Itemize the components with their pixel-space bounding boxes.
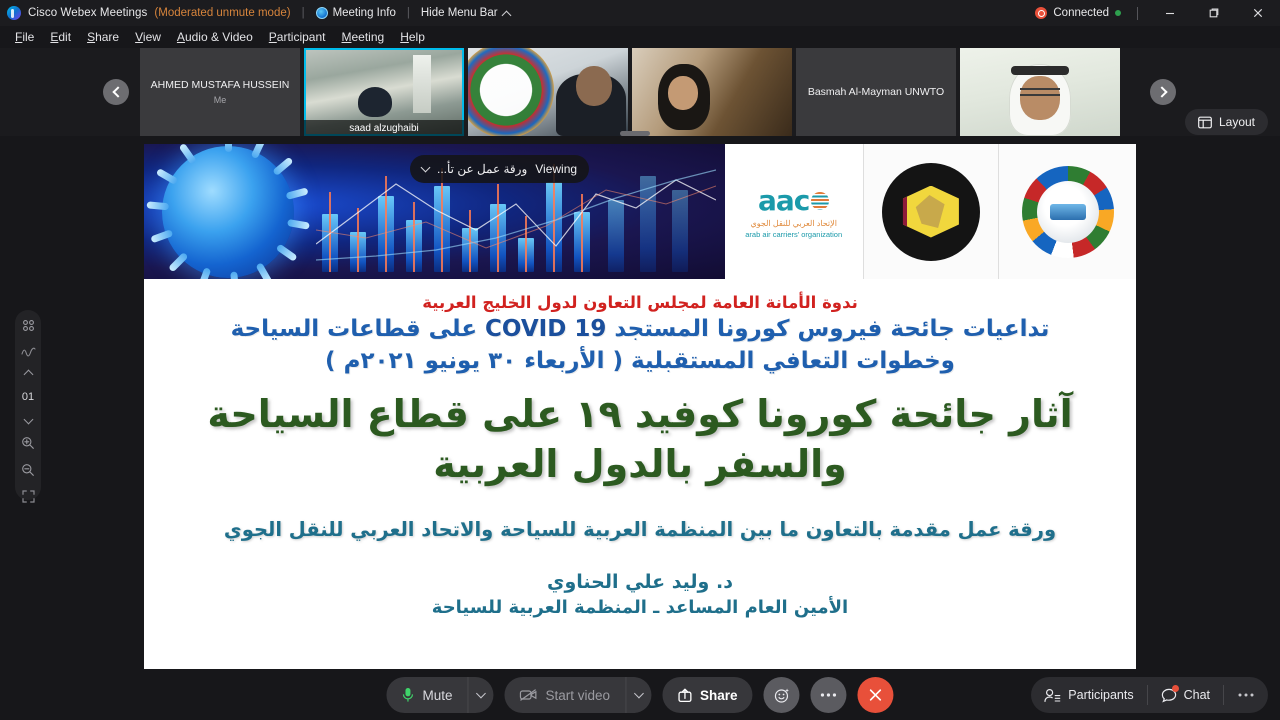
- slide-subtitle: ورقة عمل مقدمة بالتعاون ما بين المنظمة ا…: [144, 518, 1136, 541]
- more-right-button[interactable]: [1224, 677, 1268, 713]
- meeting-info-label: Meeting Info: [333, 7, 396, 19]
- leave-meeting-button[interactable]: [858, 677, 894, 713]
- gcc-seal-icon: [882, 163, 980, 261]
- mute-button-group: Mute: [386, 677, 493, 713]
- hide-menu-bar-label: Hide Menu Bar: [421, 7, 498, 19]
- participant-thumbnail-ahmed[interactable]: AHMED MUSTAFA HUSSEIN Me: [140, 48, 300, 136]
- start-video-button-group: Start video: [504, 677, 651, 713]
- menu-bar: File Edit Share View Audio & Video Parti…: [0, 26, 1280, 48]
- hide-menu-bar-button[interactable]: Hide Menu Bar: [421, 7, 510, 19]
- webex-logo-icon: [7, 6, 21, 20]
- participant-filmstrip: AHMED MUSTAFA HUSSEIN Me saad alzughaibi: [0, 48, 1280, 136]
- menu-view[interactable]: View: [127, 28, 169, 46]
- layout-button-label: Layout: [1219, 115, 1255, 129]
- menu-edit[interactable]: Edit: [42, 28, 79, 46]
- menu-meeting[interactable]: Meeting: [334, 28, 393, 46]
- page-down-button[interactable]: [18, 416, 38, 423]
- connection-status[interactable]: Connected: [1035, 7, 1121, 19]
- meeting-controls-bar: Mute Start video: [0, 670, 1280, 720]
- mute-options-button[interactable]: [467, 677, 493, 713]
- minimize-button[interactable]: [1148, 0, 1192, 26]
- viewing-document-name: ورقة عمل عن تأ...: [437, 162, 527, 176]
- fullscreen-icon[interactable]: [18, 490, 38, 503]
- aac-logo-english: arab air carriers' organization: [745, 230, 842, 239]
- slide-line-blue-1-before: تداعيات جائحة فيروس كورونا المستجد: [614, 316, 1049, 342]
- slide-line-blue-2: وخطوات التعافي المستقبلية ( الأربعاء ٣٠ …: [144, 346, 1136, 378]
- participant-thumbnail-4[interactable]: [632, 48, 792, 136]
- gcc-logo: [863, 144, 999, 279]
- mute-button-label: Mute: [422, 688, 452, 703]
- slide-line-blue-1: تداعيات جائحة فيروس كورونا المستجد COVID…: [144, 314, 1136, 377]
- maximize-button[interactable]: [1192, 0, 1236, 26]
- participants-label: Participants: [1068, 688, 1133, 702]
- menu-audio-video[interactable]: Audio & Video: [169, 28, 261, 46]
- chevron-right-icon: [1156, 86, 1167, 97]
- smiley-reaction-icon: [773, 687, 790, 704]
- title-bar: Cisco Webex Meetings (Moderated unmute m…: [0, 0, 1280, 26]
- chevron-left-icon: [112, 86, 123, 97]
- close-icon: [868, 687, 884, 703]
- filmstrip-next-button[interactable]: [1150, 79, 1176, 105]
- webex-meeting-window: Cisco Webex Meetings (Moderated unmute m…: [0, 0, 1280, 720]
- layout-icon: [1198, 116, 1212, 129]
- slide-presenter: د. وليد علي الحناوي: [144, 571, 1136, 593]
- participant-glasses: [1020, 88, 1060, 96]
- annotate-pointer-icon[interactable]: [18, 345, 38, 358]
- participant-thumbnail-3[interactable]: [468, 48, 628, 136]
- menu-share[interactable]: Share: [79, 28, 127, 46]
- participant-thumbnail-basmah[interactable]: Basmah Al-Mayman UNWTO: [796, 48, 956, 136]
- meeting-mode-label: (Moderated unmute mode): [154, 7, 290, 19]
- app-title: Cisco Webex Meetings: [28, 7, 147, 19]
- aac-logo: aac الإتحاد العربي للنقل الجوي arab air …: [725, 144, 863, 279]
- shared-slide[interactable]: aac الإتحاد العربي للنقل الجوي arab air …: [144, 144, 1136, 669]
- participant-face: [668, 76, 698, 110]
- chevron-up-icon: [501, 10, 511, 20]
- menu-help[interactable]: Help: [392, 28, 433, 46]
- arab-tourism-seal-icon: [1022, 166, 1114, 258]
- aac-logo-wordmark: aac: [758, 184, 809, 217]
- more-options-button[interactable]: [811, 677, 847, 713]
- info-circle-icon: [316, 7, 328, 19]
- participant-name-bar: saad alzughaibi: [304, 120, 464, 136]
- participant-headband: [1011, 66, 1069, 75]
- share-button[interactable]: Share: [662, 677, 753, 713]
- slide-title-line-1: آثار جائحة كورونا كوفيد ١٩ على قطاع السي…: [144, 387, 1136, 442]
- title-separator-2: |: [407, 7, 410, 19]
- titlebar-divider: [1137, 7, 1138, 20]
- chevron-down-icon: [634, 688, 644, 698]
- participant-name: Basmah Al-Mayman UNWTO: [808, 86, 944, 99]
- title-separator-1: |: [302, 7, 305, 19]
- zoom-out-icon[interactable]: [18, 463, 38, 477]
- share-button-label: Share: [700, 688, 738, 703]
- viewing-document-badge[interactable]: ورقة عمل عن تأ... Viewing: [410, 155, 589, 183]
- meeting-info-button[interactable]: Meeting Info: [316, 7, 396, 19]
- slide-line-red: ندوة الأمانة العامة لمجلس التعاون لدول ا…: [144, 293, 1136, 312]
- connection-status-label: Connected: [1053, 7, 1109, 19]
- ellipsis-icon: [1237, 692, 1255, 698]
- share-side-toolbar: 01: [15, 310, 41, 500]
- arab-tourism-organization-logo: [998, 144, 1136, 279]
- shared-content-stage: aac الإتحاد العربي للنقل الجوي arab air …: [0, 136, 1280, 670]
- start-video-button[interactable]: Start video: [504, 677, 625, 713]
- aac-globe-icon: [811, 192, 829, 210]
- slide-covid-label: COVID 19: [485, 316, 606, 342]
- zoom-in-icon[interactable]: [18, 436, 38, 450]
- status-dot-icon: [1115, 10, 1121, 16]
- slide-title-line-2: والسفر بالدول العربية: [144, 437, 1136, 492]
- slide-presenter-role: الأمين العام المساعد ـ المنظمة العربية ل…: [144, 597, 1136, 618]
- share-screen-icon: [677, 688, 692, 703]
- participant-head: [576, 66, 612, 106]
- ellipsis-icon: [820, 692, 838, 698]
- chevron-down-icon: [421, 162, 431, 172]
- participants-button[interactable]: Participants: [1031, 677, 1146, 713]
- mute-button[interactable]: Mute: [386, 677, 467, 713]
- grid-view-icon[interactable]: [18, 319, 38, 332]
- participant-thumbnail-saad[interactable]: saad alzughaibi: [304, 48, 464, 136]
- participants-icon: [1044, 688, 1061, 703]
- participant-name: AHMED MUSTAFA HUSSEIN: [151, 79, 290, 92]
- chat-button[interactable]: Chat: [1148, 677, 1223, 713]
- page-number: 01: [22, 391, 34, 403]
- participant-face: [1020, 76, 1060, 120]
- page-up-button[interactable]: [18, 371, 38, 378]
- microphone-icon: [401, 687, 414, 703]
- record-icon: [1035, 7, 1047, 19]
- slide-body: ندوة الأمانة العامة لمجلس التعاون لدول ا…: [144, 279, 1136, 669]
- menu-file[interactable]: File: [7, 28, 42, 46]
- viewing-label: Viewing: [535, 162, 577, 176]
- slide-header-band: aac الإتحاد العربي للنقل الجوي arab air …: [144, 144, 1136, 279]
- filmstrip-prev-button[interactable]: [103, 79, 129, 105]
- slide-line-blue-1-after: على قطاعات السياحة: [231, 316, 477, 342]
- participant-name: saad alzughaibi: [349, 123, 419, 134]
- coronavirus-graphic: [162, 146, 294, 278]
- start-video-button-label: Start video: [545, 688, 610, 703]
- layout-button[interactable]: Layout: [1185, 109, 1268, 135]
- chat-label: Chat: [1184, 688, 1210, 702]
- chevron-down-icon: [476, 688, 486, 698]
- aac-logo-arabic: الإتحاد العربي للنقل الجوي: [750, 219, 837, 228]
- close-button[interactable]: [1236, 0, 1280, 26]
- right-controls-group: Participants Chat: [1031, 677, 1268, 713]
- backdrop-emblem-icon: [468, 48, 554, 136]
- participant-thumbnail-6[interactable]: [960, 48, 1120, 136]
- chat-unread-badge: [1172, 685, 1179, 692]
- video-options-button[interactable]: [625, 677, 651, 713]
- menu-participant[interactable]: Participant: [261, 28, 334, 46]
- camera-off-icon: [519, 688, 537, 702]
- participant-subtitle: Me: [214, 95, 227, 105]
- reactions-button[interactable]: [764, 677, 800, 713]
